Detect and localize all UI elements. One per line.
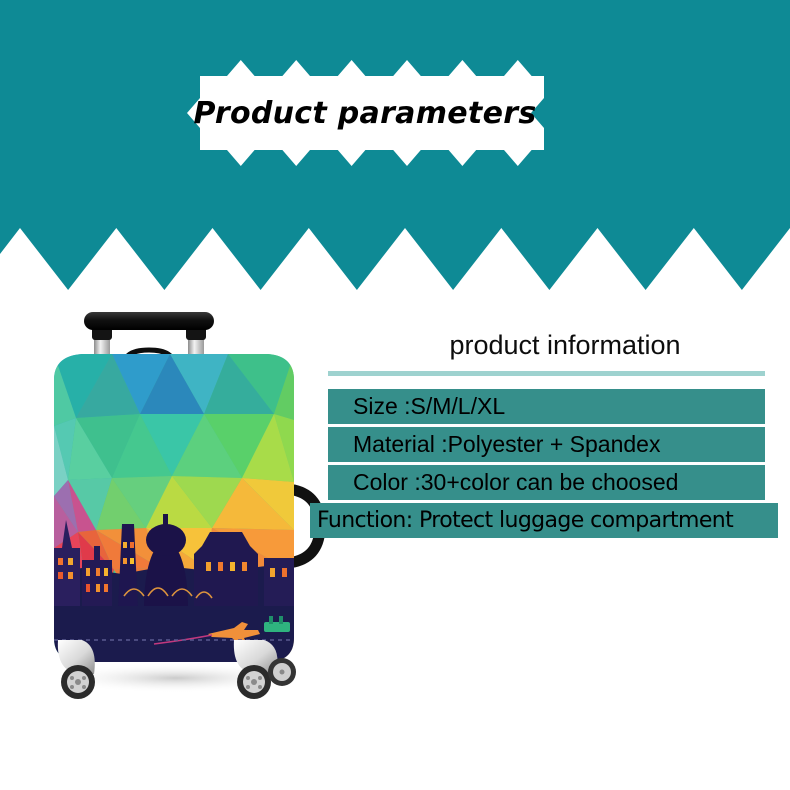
info-row-material-label: Material :Polyester + Spandex <box>353 431 660 458</box>
info-row-function: Function: Protect luggage compartment <box>310 503 778 538</box>
product-information-heading: product information <box>400 330 730 361</box>
heading-underline <box>328 371 765 376</box>
info-row-size-label: Size :S/M/L/XL <box>353 393 505 420</box>
info-row-size: Size :S/M/L/XL <box>328 389 765 424</box>
info-row-material: Material :Polyester + Spandex <box>328 427 765 462</box>
info-row-function-label: Function: Protect luggage compartment <box>317 508 733 533</box>
banner-title: Product parameters <box>186 58 544 168</box>
product-information-panel: product information Size :S/M/L/XL Mater… <box>305 330 785 570</box>
product-image <box>36 310 326 710</box>
title-banner: Product parameters <box>186 58 544 168</box>
info-row-color: Color :30+color can be choosed <box>328 465 765 500</box>
info-row-color-label: Color :30+color can be choosed <box>353 469 678 496</box>
suitcase-illustration <box>36 310 326 710</box>
